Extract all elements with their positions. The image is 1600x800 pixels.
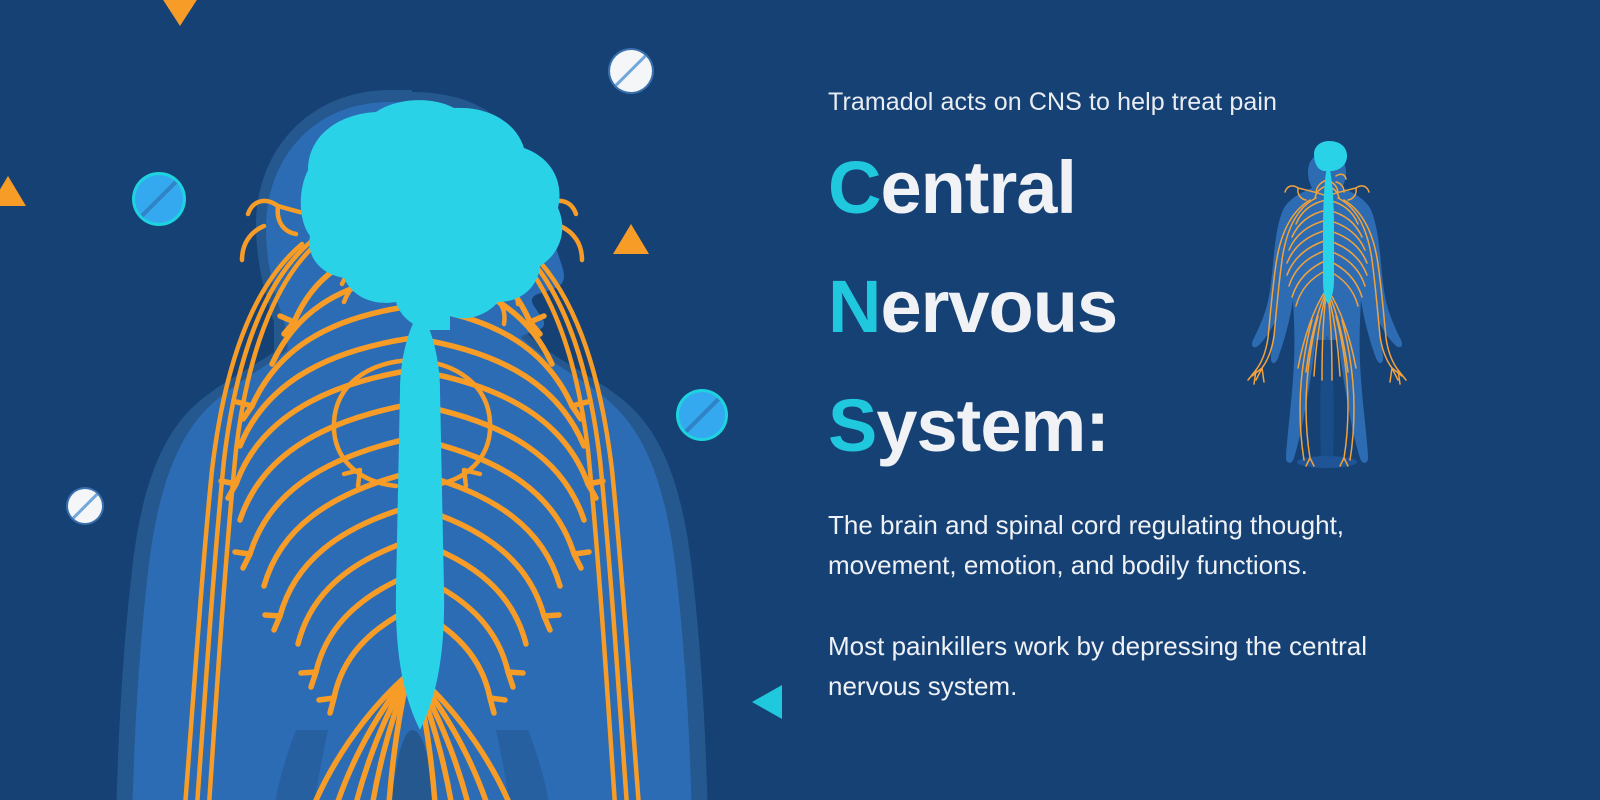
paragraph-1: The brain and spinal cord regulating tho… bbox=[828, 505, 1448, 585]
body-copy: The brain and spinal cord regulating tho… bbox=[828, 505, 1448, 706]
spinal-cord bbox=[396, 314, 444, 730]
triangle-orange-left-icon bbox=[0, 176, 26, 206]
triangle-orange-top-icon bbox=[158, 0, 202, 26]
headline-cap-1: C bbox=[828, 146, 880, 229]
headline-line-1: Central bbox=[828, 128, 1248, 247]
kicker-text: Tramadol acts on CNS to help treat pain bbox=[828, 88, 1277, 117]
headline-line-3: System: bbox=[828, 366, 1248, 485]
text-panel: Tramadol acts on CNS to help treat pain … bbox=[828, 0, 1588, 800]
headline-rest-2: ervous bbox=[880, 265, 1117, 348]
infographic-canvas: Tramadol acts on CNS to help treat pain … bbox=[0, 0, 1600, 800]
headline-cap-3: S bbox=[828, 384, 876, 467]
brain-small bbox=[1314, 141, 1347, 171]
headline-rest-3: ystem: bbox=[876, 384, 1109, 467]
page-title: Central Nervous System: bbox=[828, 128, 1248, 485]
paragraph-2: Most painkillers work by depressing the … bbox=[828, 626, 1448, 706]
headline-rest-1: entral bbox=[880, 146, 1076, 229]
upper-body-nervous-system-illustration bbox=[60, 30, 760, 800]
headline-cap-2: N bbox=[828, 265, 880, 348]
headline-line-2: Nervous bbox=[828, 247, 1248, 366]
full-body-nervous-system-illustration bbox=[1232, 140, 1422, 470]
